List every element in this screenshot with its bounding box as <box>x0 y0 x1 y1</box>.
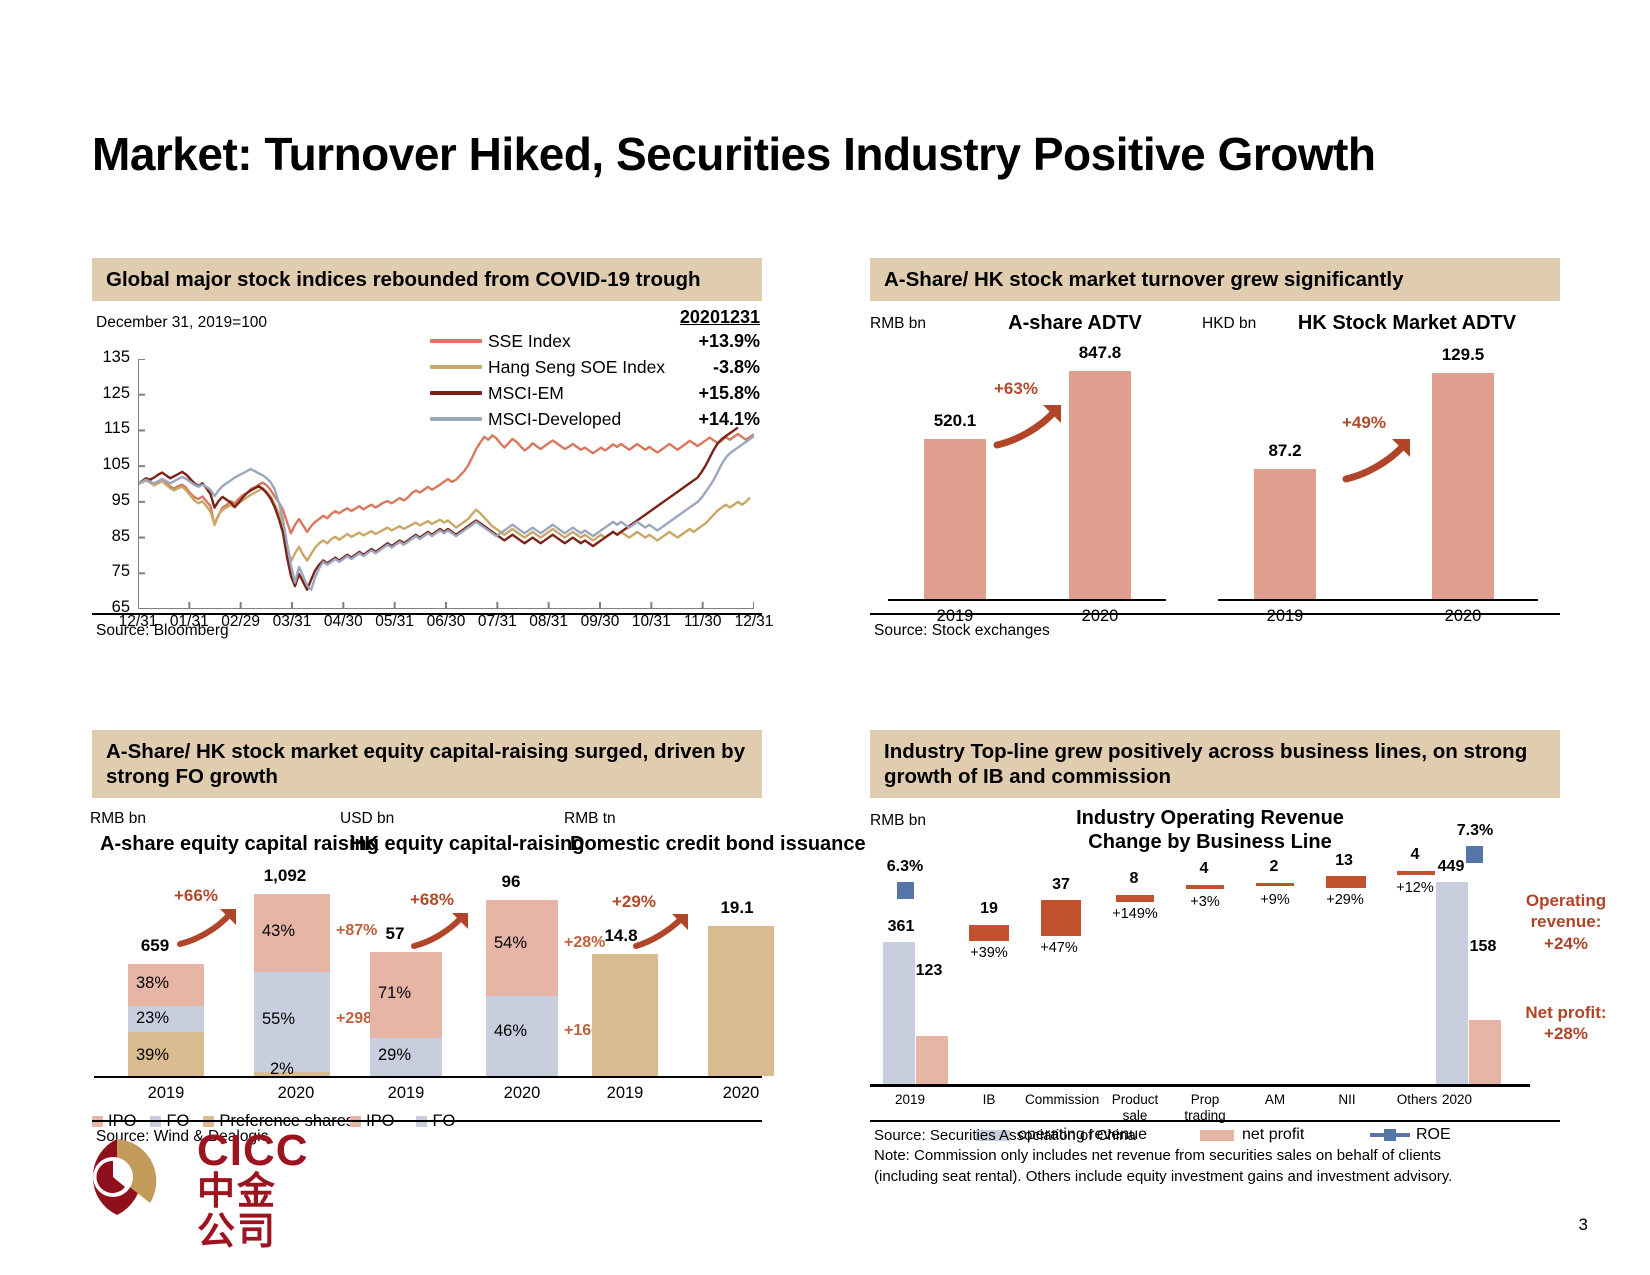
growth-arrow-a-share <box>993 401 1067 449</box>
total-label-hk-2020: 96 <box>466 872 556 892</box>
growth-ib: +39% <box>956 945 1022 961</box>
bar-value-a-share-2020: 847.8 <box>1045 343 1155 363</box>
panel-industry: Industry Top-line grew positively across… <box>870 730 1560 1150</box>
bar-bond-2020[interactable] <box>708 926 774 1076</box>
x-label-industry-nii: NII <box>1311 1092 1383 1108</box>
x-label-hk-capital-2020: 2020 <box>462 1084 582 1103</box>
bar-prop-trading[interactable] <box>1186 885 1224 889</box>
x-label-industry-2020: 2020 <box>1421 1092 1493 1108</box>
roe-marker-2019[interactable] <box>897 882 914 899</box>
side-note-net-profit: Net profit: +28% <box>1506 1002 1626 1045</box>
x-label-bond-2020: 2020 <box>682 1084 800 1103</box>
panel-body-indices: December 31, 2019=100 20201231 SSE Index… <box>92 301 762 631</box>
growth-commission: +47% <box>1026 940 1092 956</box>
panel-header-indices: Global major stock indices rebounded fro… <box>92 258 762 301</box>
line-chart-xtick-5: 05/31 <box>367 613 423 631</box>
panel-body-industry: RMB bn Industry Operating Revenue Change… <box>870 798 1560 1148</box>
unit-label-a-share-capital: RMB bn <box>90 810 146 828</box>
x-label-industry-commission: Commission <box>1025 1092 1097 1108</box>
x-label-industry-ib: IB <box>953 1092 1025 1108</box>
bar-value-opex-2019: 361 <box>868 918 934 936</box>
chart-title-industry: Industry Operating Revenue Change by Bus… <box>1020 806 1400 854</box>
side-note-opex-line2: revenue: <box>1506 911 1626 932</box>
segment-pct-hk-2019-fo: 29% <box>378 1046 411 1065</box>
chart-title-hk-capital-text: HK equity capital-raising <box>350 833 585 855</box>
source-note-industry: Source: Securities Association of China … <box>874 1126 1564 1187</box>
line-chart-svg <box>138 359 754 609</box>
growth-arrow-a-share-capital <box>176 906 242 948</box>
chart-title-hk-adtv: HK Stock Market ADTV <box>1262 311 1552 335</box>
line-chart-note: December 31, 2019=100 <box>96 314 267 332</box>
line-chart-xtick-10: 10/31 <box>623 613 679 631</box>
line-chart-xtick-4: 04/30 <box>315 613 371 631</box>
roe-label-2019: 6.3% <box>872 858 938 876</box>
bar-nii[interactable] <box>1326 876 1366 888</box>
axis-a-share-adtv <box>888 599 1166 601</box>
unit-label-bond: RMB tn <box>564 810 616 828</box>
axis-industry <box>870 1084 1530 1087</box>
divider-capital <box>92 1120 762 1122</box>
line-chart-xtick-11: 11/30 <box>675 613 731 631</box>
line-chart-ytick-125: 125 <box>96 384 130 403</box>
bar-net-profit-2019[interactable] <box>916 1036 948 1084</box>
cicc-logo-mark <box>55 1131 185 1223</box>
line-chart-xtick-8: 08/31 <box>521 613 577 631</box>
line-chart-xtick-6: 06/30 <box>418 613 474 631</box>
chart-title-industry-line2: Change by Business Line <box>1020 830 1400 854</box>
bar-value-opex-2020: 449 <box>1418 858 1484 876</box>
legend-swatch-sse <box>430 339 482 343</box>
x-label-industry-product-sale: Productsale <box>1099 1092 1171 1123</box>
segment-pct-a-share-2020-ipo: 43% <box>262 922 295 941</box>
divider-indices <box>92 613 762 615</box>
panel-body-capital: RMB bn A-share equity capital raising 65… <box>92 798 762 1148</box>
side-note-opex-line1: Operating <box>1506 890 1626 911</box>
growth-label-hk: +49% <box>1342 413 1386 433</box>
legend-item-sse[interactable]: SSE Index +13.9% <box>430 328 760 354</box>
bar-value-product-sale: 8 <box>1101 870 1167 888</box>
bar-bond-2019[interactable] <box>592 954 658 1076</box>
chart-title-a-share-capital-text: A-share equity capital raising <box>100 833 379 855</box>
bar-commission[interactable] <box>1041 900 1081 936</box>
line-chart-xtick-9: 09/30 <box>572 613 628 631</box>
unit-label-industry: RMB bn <box>870 812 926 830</box>
growth-nii: +29% <box>1310 892 1380 908</box>
line-series-3 <box>138 434 754 590</box>
line-chart-ytick-95: 95 <box>96 491 130 510</box>
page-number: 3 <box>1579 1215 1588 1235</box>
bar-operating-revenue-2020[interactable] <box>1436 882 1468 1084</box>
side-note-operating-revenue: Operating revenue: +24% <box>1506 890 1626 954</box>
legend-value-sse: +13.9% <box>678 331 760 352</box>
line-chart-ytick-85: 85 <box>96 527 130 546</box>
x-label-bond-2019: 2019 <box>566 1084 684 1103</box>
growth-label-a-share-capital: +66% <box>174 886 218 906</box>
axis-hk-adtv <box>1218 599 1538 601</box>
growth-label-hk-capital: +68% <box>410 890 454 910</box>
x-label-industry-prop-trading: Prop trading <box>1169 1092 1241 1123</box>
growth-arrow-hk-capital <box>410 910 474 950</box>
axis-bond <box>560 1076 762 1078</box>
growth-label-bond: +29% <box>612 892 656 912</box>
panel-header-turnover: A-Share/ HK stock market turnover grew s… <box>870 258 1560 301</box>
line-chart-ytick-115: 115 <box>96 419 130 438</box>
chart-title-a-share-capital: A-share equity capital raising <box>100 832 320 856</box>
source-industry: Source: Securities Association of China <box>874 1126 1564 1146</box>
chart-title-a-share-adtv: A-share ADTV <box>940 311 1210 335</box>
page-title: Market: Turnover Hiked, Securities Indus… <box>92 128 1552 181</box>
bar-value-ib: 19 <box>956 900 1022 918</box>
x-label-a-share-2020: 2020 <box>1045 607 1155 626</box>
panel-header-industry: Industry Top-line grew positively across… <box>870 730 1560 798</box>
growth-arrow-bond <box>632 912 694 950</box>
total-label-a-share-2020: 1,092 <box>230 866 340 886</box>
x-label-hk-2020: 2020 <box>1408 607 1518 626</box>
roe-label-2020: 7.3% <box>1440 822 1510 840</box>
segment-pct-hk-2020-ipo: 54% <box>494 934 527 953</box>
legend-label-sse: SSE Index <box>488 331 678 352</box>
panel-global-indices: Global major stock indices rebounded fro… <box>92 258 762 658</box>
line-chart-axes <box>138 359 754 609</box>
x-label-a-share-capital-2020: 2020 <box>230 1084 362 1103</box>
growth-prop-trading: +3% <box>1170 894 1240 910</box>
unit-label-a-share-adtv: RMB bn <box>870 315 926 333</box>
bar-value-commission: 37 <box>1028 876 1094 894</box>
panel-capital-raising: A-Share/ HK stock market equity capital-… <box>92 730 762 1150</box>
line-chart-ytick-135: 135 <box>96 348 130 367</box>
bar-value-prop-trading: 4 <box>1171 860 1237 878</box>
bar-value-nii: 13 <box>1311 852 1377 870</box>
side-note-opex-line3: +24% <box>1506 933 1626 954</box>
unit-label-hk-adtv: HKD bn <box>1202 315 1256 333</box>
note-industry-line1: Note: Commission only includes net reven… <box>874 1146 1564 1166</box>
growth-arrow-hk <box>1342 435 1416 483</box>
cicc-logo-text: CICC 中金公司 <box>197 1129 309 1253</box>
bar-value-hk-2019: 87.2 <box>1230 441 1340 461</box>
bar-ib[interactable] <box>969 925 1009 941</box>
panel-turnover: A-Share/ HK stock market turnover grew s… <box>870 258 1560 658</box>
cicc-logo-brand-cn: 中金公司 <box>197 1173 309 1253</box>
line-chart-xtick-7: 07/31 <box>469 613 525 631</box>
bar-a-share-2020[interactable] <box>1069 371 1131 599</box>
line-series-1 <box>138 480 750 561</box>
chart-title-hk-capital: HK equity capital-raising <box>350 832 560 856</box>
unit-label-hk-capital: USD bn <box>340 810 394 828</box>
source-turnover: Source: Stock exchanges <box>874 622 1050 640</box>
segment-pct-hk-2019-ipo: 71% <box>378 984 411 1003</box>
x-label-hk-capital-2019: 2019 <box>346 1084 466 1103</box>
bar-value-netprofit-2019: 123 <box>896 962 962 980</box>
source-indices: Source: Bloomberg <box>96 622 229 640</box>
x-label-a-share-capital-2019: 2019 <box>100 1084 232 1103</box>
cicc-logo-brand: CICC <box>197 1129 309 1173</box>
divider-turnover <box>870 613 1560 615</box>
line-chart-ytick-75: 75 <box>96 562 130 581</box>
panel-body-turnover: RMB bn A-share ADTV 520.1 847.8 +63% 201… <box>870 301 1560 631</box>
growth-am: +9% <box>1240 892 1310 908</box>
bar-hk-2020[interactable] <box>1432 373 1494 599</box>
legend-value-header: 20201231 <box>680 307 760 328</box>
slide-root: Market: Turnover Hiked, Securities Indus… <box>0 0 1650 1275</box>
line-chart-xtick-3: 03/31 <box>264 613 320 631</box>
chart-title-bond: Domestic credit bond issuance <box>570 832 770 856</box>
segment-pct-hk-2020-fo: 46% <box>494 1022 527 1041</box>
line-chart-ytick-105: 105 <box>96 455 130 474</box>
bar-value-am: 2 <box>1241 858 1307 876</box>
segment-pct-a-share-2019-ipo: 38% <box>136 974 169 993</box>
segment-pct-a-share-2020-fo: 55% <box>262 1010 295 1029</box>
bar-a-share-2019[interactable] <box>924 439 986 599</box>
bar-net-profit-2020[interactable] <box>1469 1020 1501 1084</box>
note-industry-line2: (including seat rental). Others include … <box>874 1167 1564 1187</box>
x-label-industry-2019: 2019 <box>874 1092 946 1108</box>
divider-industry <box>870 1120 1560 1122</box>
side-note-np-line1: Net profit: <box>1506 1002 1626 1023</box>
bar-value-bond-2020: 19.1 <box>682 898 792 918</box>
chart-title-bond-text: Domestic credit bond issuance <box>570 833 866 855</box>
x-label-hk-2019: 2019 <box>1230 607 1340 626</box>
panel-header-capital: A-Share/ HK stock market equity capital-… <box>92 730 762 798</box>
bar-hk-2019[interactable] <box>1254 469 1316 599</box>
line-chart-xtick-12: 12/31 <box>726 613 782 631</box>
segment-pct-a-share-2019-pref: 39% <box>136 1046 169 1065</box>
x-label-industry-am: AM <box>1239 1092 1311 1108</box>
bar-am[interactable] <box>1256 883 1294 886</box>
growth-label-a-share: +63% <box>994 379 1038 399</box>
bar-value-hk-2020: 129.5 <box>1408 345 1518 365</box>
segment-pct-a-share-2019-fo: 23% <box>136 1009 169 1028</box>
bar-product-sale[interactable] <box>1116 895 1154 902</box>
chart-title-industry-line1: Industry Operating Revenue <box>1020 806 1400 830</box>
cicc-logo: CICC 中金公司 <box>55 1131 305 1223</box>
growth-product-sale: +149% <box>1098 906 1172 922</box>
side-note-np-line2: +28% <box>1506 1023 1626 1044</box>
line-series-0 <box>138 434 754 533</box>
line-series-2 <box>138 428 738 590</box>
line-chart-plot <box>138 359 754 609</box>
